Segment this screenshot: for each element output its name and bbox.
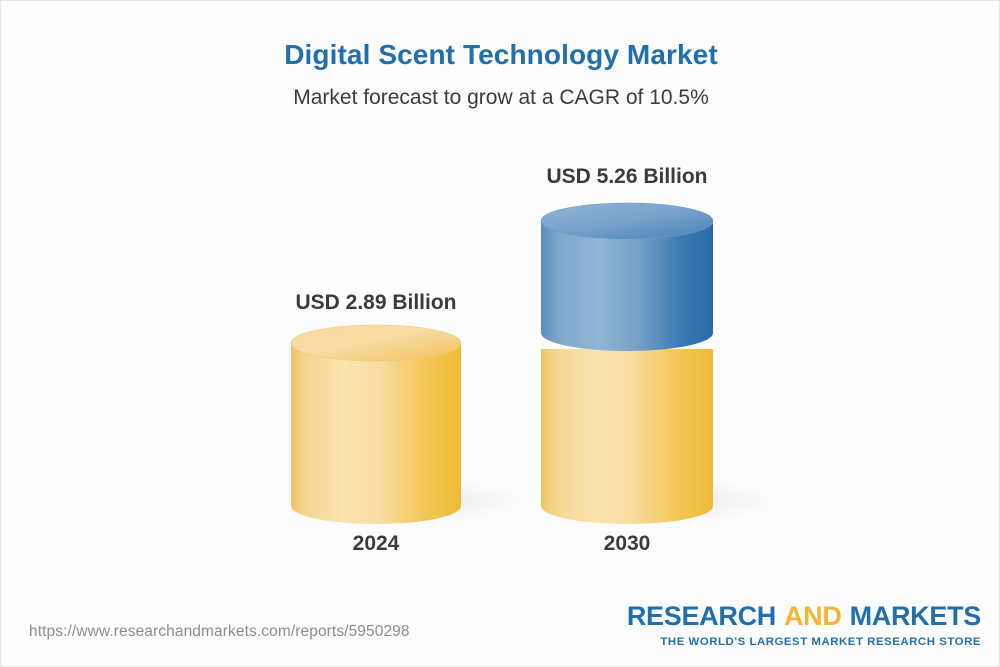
- bar-2030-body-upper-blue: [541, 221, 713, 351]
- category-label-2030: 2030: [507, 532, 747, 556]
- bar-2030[interactable]: [541, 203, 713, 524]
- logo-wordmark: RESEARCHANDMARKETS: [627, 603, 981, 630]
- value-label-2030: USD 5.26 Billion: [467, 165, 787, 189]
- infographic-canvas: Digital Scent Technology Market Market f…: [0, 0, 1000, 667]
- bar-2024-top-cap: [291, 325, 461, 361]
- logo-word-markets: MARKETS: [850, 601, 981, 631]
- value-label-2024: USD 2.89 Billion: [216, 291, 536, 315]
- bar-2024-body: [291, 343, 461, 524]
- logo-word-research: RESEARCH: [627, 601, 776, 631]
- logo-word-and: AND: [784, 601, 842, 631]
- research-and-markets-logo[interactable]: RESEARCHANDMARKETS THE WORLD'S LARGEST M…: [627, 603, 981, 648]
- category-label-2024: 2024: [256, 532, 496, 556]
- bar-2024[interactable]: [291, 325, 461, 524]
- bar-2030-body-lower-yellow: [541, 349, 713, 524]
- cylinder-bar-chart: [1, 1, 1000, 667]
- bar-2030-top-cap: [541, 203, 713, 239]
- logo-tagline: THE WORLD'S LARGEST MARKET RESEARCH STOR…: [627, 637, 981, 648]
- report-url[interactable]: https://www.researchandmarkets.com/repor…: [29, 623, 410, 641]
